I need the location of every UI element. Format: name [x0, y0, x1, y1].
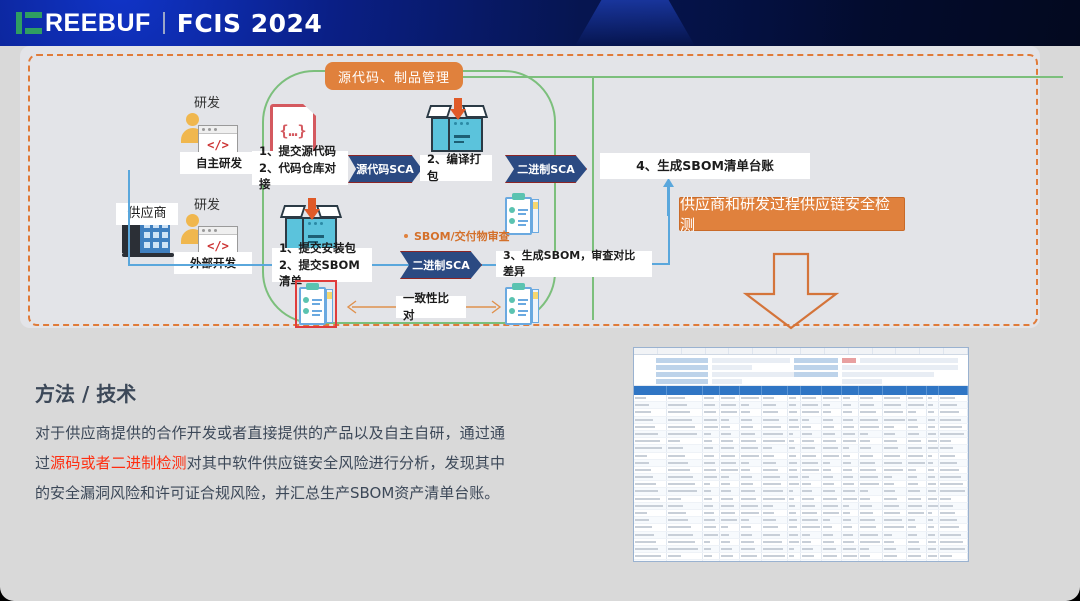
sbom-ledger-screenshot [633, 347, 969, 562]
method-body: 对于供应商提供的合作开发或者直接提供的产品以及自主自研，通过通过源码或者二进制检… [35, 418, 505, 508]
table-row [634, 424, 968, 431]
table-row [634, 553, 968, 560]
badge-binary-sca-bottom: 二进制SCA [400, 251, 482, 279]
label-self-development: 自主研发 [180, 152, 258, 174]
slide-header: REEBUF FCIS 2024 [0, 0, 1080, 46]
step-generate-sbom-compare: 3、生成SBOM，审查对比差异 [496, 251, 652, 277]
table-row [634, 395, 968, 402]
label-consistency-compare: 一致性比对 [396, 296, 466, 318]
sheet-meta-area [634, 355, 968, 386]
badge-binary-sca-top: 二进制SCA [505, 155, 587, 183]
table-row [634, 510, 968, 517]
connector-supplier-to-flow [128, 264, 274, 266]
method-text-block: 方法 / 技术 对于供应商提供的合作开发或者直接提供的产品以及自主自研，通过通过… [35, 378, 505, 508]
table-row [634, 539, 968, 546]
badge-source-code-sca: 源代码SCA [348, 155, 422, 183]
table-row [634, 488, 968, 495]
label-external-development: 外部开发 [174, 252, 252, 274]
checklist-icon-generated [505, 283, 539, 325]
table-row [634, 481, 968, 488]
sheet-data-rows [634, 395, 968, 562]
event-name: FCIS 2024 [177, 9, 323, 38]
table-row [634, 460, 968, 467]
table-row [634, 546, 968, 553]
zone-line-right [463, 76, 1063, 78]
method-title: 方法 / 技术 [35, 378, 505, 407]
logo-divider [163, 12, 165, 34]
step-submit-source: 1、提交源代码 2、代码仓库对接 [252, 151, 348, 185]
step-compile-package: 2、编译打包 [420, 155, 492, 181]
connector-vertical [128, 170, 130, 266]
light-beam [575, 0, 695, 46]
zone-label-source-artifact: 源代码、制品管理 [325, 62, 463, 90]
arrow-up-icon [663, 178, 674, 216]
checklist-icon-supplier [299, 283, 333, 325]
checklist-icon-top [505, 193, 539, 235]
zone-divider-vertical [592, 76, 594, 320]
bullet-dot [404, 234, 408, 238]
table-row [634, 467, 968, 474]
table-row [634, 431, 968, 438]
sheet-column-headers [634, 348, 968, 355]
table-row [634, 474, 968, 481]
table-row [634, 409, 968, 416]
slide-root: REEBUF FCIS 2024 源代码、制品管理 研发 </> 自主研发 研发… [0, 0, 1080, 601]
big-down-arrow-icon [736, 252, 846, 330]
label-rd-bottom: 研发 [194, 194, 220, 213]
method-highlight: 源码或者二进制检测 [50, 454, 187, 472]
table-row [634, 402, 968, 409]
label-sbom-review: SBOM/交付物审查 [414, 228, 510, 244]
table-row [634, 417, 968, 424]
brand-name: REEBUF [45, 11, 151, 36]
table-row [634, 517, 968, 524]
table-row [634, 445, 968, 452]
label-rd-top: 研发 [194, 92, 220, 111]
table-row [634, 503, 968, 510]
step-generate-sbom-ledger: 4、生成SBOM清单台账 [600, 153, 810, 179]
table-row [634, 438, 968, 445]
arrow-down-icon-2 [304, 198, 320, 220]
arrow-down-icon [450, 98, 466, 120]
table-row [634, 453, 968, 460]
table-row [634, 524, 968, 531]
table-row [634, 560, 968, 562]
step-submit-package-sbom: 1、提交安装包 2、提交SBOM清单 [272, 248, 372, 282]
sheet-header-row [634, 386, 968, 395]
table-row [634, 532, 968, 539]
code-window-icon: </> [198, 125, 238, 155]
freebuf-bars-icon [16, 12, 42, 34]
freebuf-logo: REEBUF FCIS 2024 [16, 8, 322, 38]
label-supplier: 供应商 [116, 203, 178, 225]
callout-supply-chain-detection: 供应商和研发过程供应链安全检测 [679, 197, 905, 231]
table-row [634, 496, 968, 503]
